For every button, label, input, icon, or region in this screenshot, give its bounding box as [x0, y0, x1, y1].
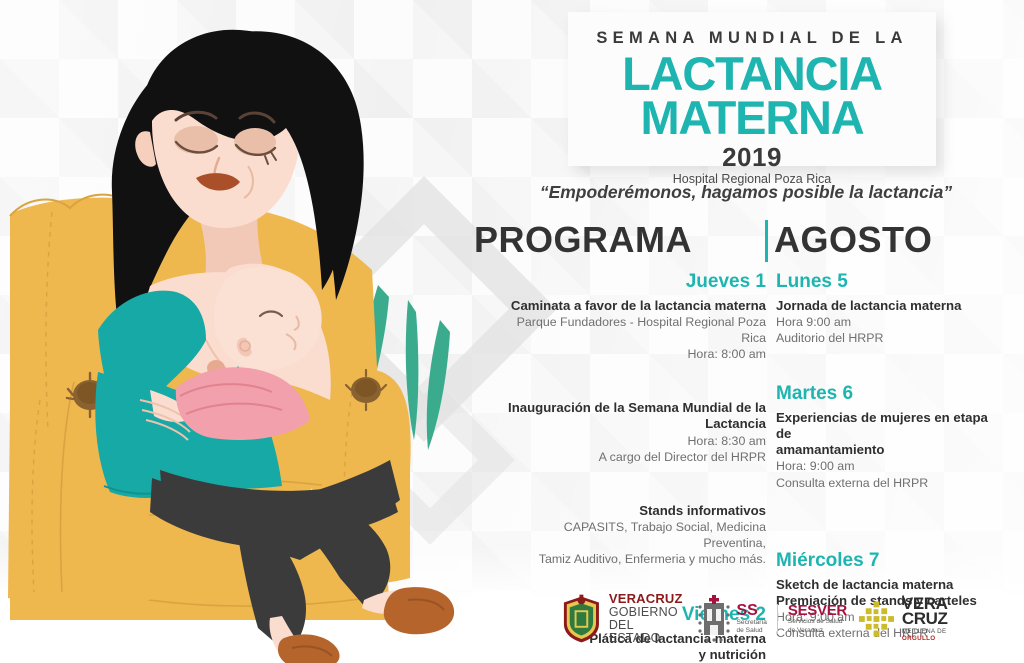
program-entry: Martes 6 Experiencias de mujeres en etap…	[776, 384, 992, 490]
program-entry: Inauguración de la Semana Mundial de la …	[500, 400, 766, 464]
header-title-card: SEMANA MUNDIAL DE LA LACTANCIA MATERNA 2…	[568, 12, 936, 166]
veracruz-orgullo-text: VERA CRUZ ME LLENA DE ORGULLO	[902, 596, 980, 642]
program-day-label: Jueves 1	[500, 272, 766, 293]
program-event-detail: Consulta externa del HRPR	[776, 475, 992, 491]
orgullo-line2: CRUZ	[902, 611, 980, 627]
program-event-title: Stands informativos	[500, 503, 766, 519]
program-event-detail: Parque Fundadores - Hospital Regional Po…	[500, 314, 766, 346]
logo-separator	[777, 604, 778, 634]
sesver-text: SESVER Servicios de Salud de Veracruz	[788, 603, 847, 634]
program-entry: Stands informativos CAPASITS, Trabajo So…	[500, 503, 766, 567]
program-event-title: Caminata a favor de la lactancia materna	[500, 298, 766, 314]
program-event-detail: Auditorio del HRPR	[776, 330, 992, 346]
heading-programa: PROGRAMA	[474, 222, 692, 258]
program-event-title-cont: amamantamiento	[776, 442, 992, 458]
program-event-detail: CAPASITS, Trabajo Social, Medicina Preve…	[500, 519, 766, 551]
veracruz-line3: DEL ESTADO	[609, 619, 687, 645]
program-day-label: Martes 6	[776, 384, 992, 405]
program-entry: Lunes 5 Jornada de lactancia materna Hor…	[776, 272, 992, 346]
heading-agosto: AGOSTO	[774, 222, 932, 258]
orgullo-tagline-bold: ORGULLO	[902, 635, 936, 642]
spacer	[776, 529, 992, 551]
program-event-detail: Tamiz Auditivo, Enfermeria y mucho más.	[500, 551, 766, 567]
poster-root: SEMANA MUNDIAL DE LA LACTANCIA MATERNA 2…	[0, 0, 1024, 663]
heading-divider	[765, 220, 768, 262]
footer-logo-bar: VERACRUZ GOBIERNO DEL ESTADO	[560, 588, 980, 650]
header-title-line2: MATERNA	[568, 96, 936, 140]
mother-breastfeeding-illustration	[0, 0, 500, 663]
veracruz-orgullo-pattern-icon	[857, 599, 896, 639]
program-day-label: Lunes 5	[776, 272, 992, 293]
veracruz-gobierno-text: VERACRUZ GOBIERNO DEL ESTADO	[609, 592, 687, 645]
header-kicker: SEMANA MUNDIAL DE LA	[568, 30, 936, 47]
ss-line1: SS	[737, 603, 767, 619]
program-event-detail: Hora 9:00 am	[776, 314, 992, 330]
veracruz-line1: VERACRUZ	[609, 592, 687, 606]
program-event-title: Inauguración de la Semana Mundial de la …	[500, 400, 766, 432]
logo-secretaria-de-salud: SS Secretaría de Salud	[697, 595, 767, 643]
program-event-detail: Hora: 8:30 am	[500, 433, 766, 449]
ss-text: SS Secretaría de Salud	[737, 603, 767, 635]
program-event-detail: Hora: 8:00 am	[500, 346, 766, 362]
program-event-detail: A cargo del Director del HRPR	[500, 449, 766, 465]
program-event-title: Experiencias de mujeres en etapa de	[776, 410, 992, 442]
program-event-detail: Hora: 9:00 am	[776, 458, 992, 474]
spacer	[776, 362, 992, 384]
ss-line2: Secretaría	[737, 619, 767, 627]
program-event-title: Jornada de lactancia materna	[776, 298, 992, 314]
sesver-line1: SESVER	[788, 603, 847, 618]
spacer	[776, 507, 992, 529]
program-entry: Jueves 1 Caminata a favor de la lactanci…	[500, 272, 766, 362]
orgullo-tagline: ME LLENA DE ORGULLO	[902, 629, 980, 642]
secretaria-salud-emblem-icon	[697, 595, 731, 643]
veracruz-coat-of-arms-icon	[560, 594, 603, 644]
logo-veracruz-orgullo: VERA CRUZ ME LLENA DE ORGULLO	[857, 596, 980, 642]
header-main-title: LACTANCIA MATERNA	[568, 52, 936, 140]
header-year: 2019	[568, 144, 936, 170]
program-day-label: Miércoles 7	[776, 551, 992, 572]
tagline-quote: “Empoderémonos, hagamos posible la lacta…	[500, 182, 992, 203]
spacer	[500, 481, 766, 503]
logo-veracruz-gobierno: VERACRUZ GOBIERNO DEL ESTADO	[560, 592, 687, 645]
ss-line3: de Salud	[737, 627, 767, 635]
spacer	[500, 378, 766, 400]
logo-sesver: SESVER Servicios de Salud de Veracruz	[788, 603, 847, 634]
sesver-line2: Servicios de Salud	[788, 618, 847, 626]
sesver-line3: de Veracruz	[788, 627, 847, 635]
section-headings: PROGRAMA AGOSTO	[500, 222, 970, 268]
